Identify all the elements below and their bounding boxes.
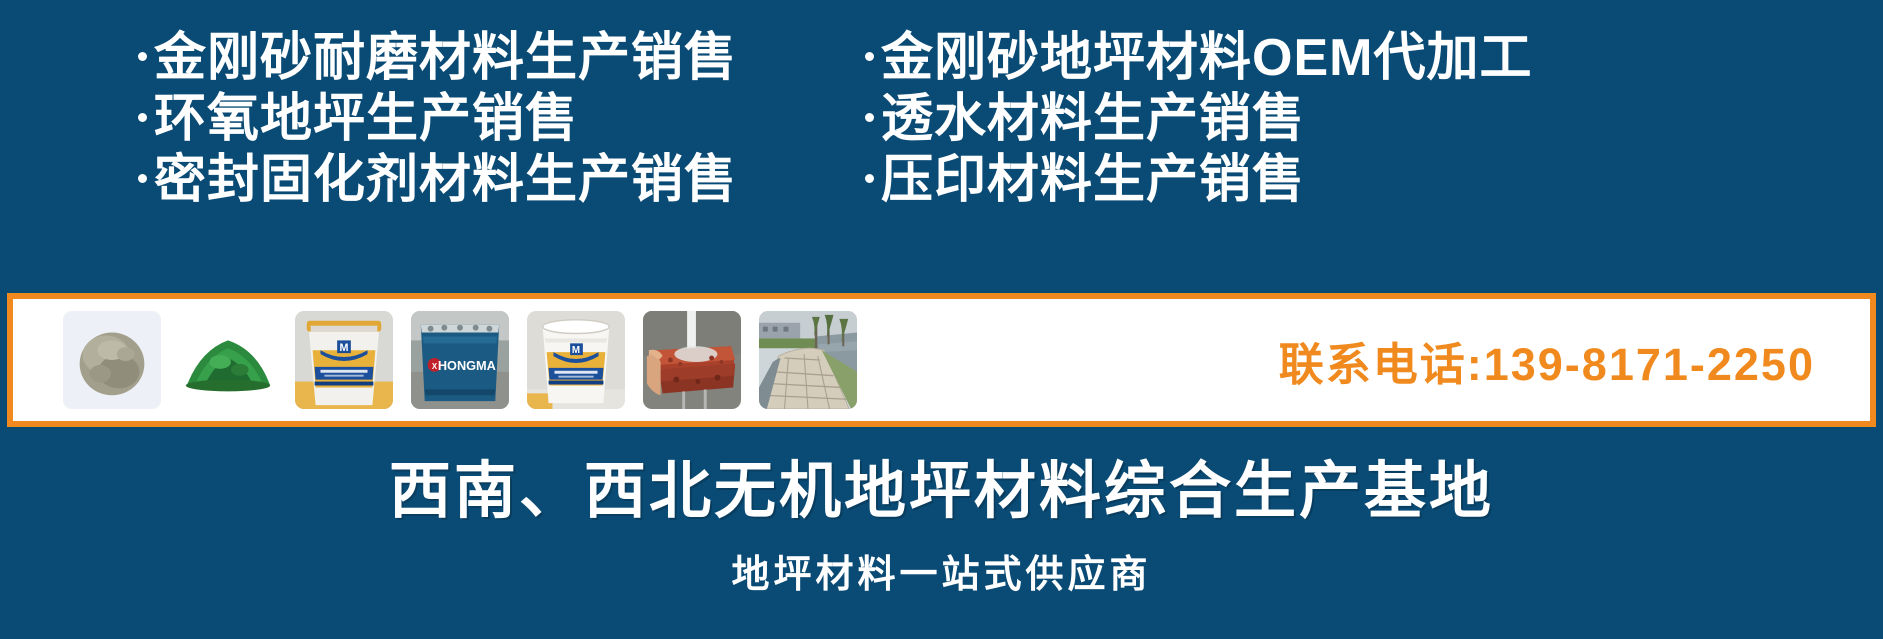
feature-label: 环氧地坪生产销售 <box>154 89 578 150</box>
feature-column-right: 金刚砂地坪材料OEM代加工 透水材料生产销售 压印材料生产销售 <box>855 28 1883 211</box>
feature-column-left: 金刚砂耐磨材料生产销售 环氧地坪生产销售 密封固化剂材料生产销售 <box>0 28 855 211</box>
footer-headline: 西南、西北无机地坪材料综合生产基地 <box>0 455 1883 529</box>
svg-text:M: M <box>572 345 580 356</box>
contact-phone-text: 联系电话:139-8171-2250 <box>1279 339 1815 390</box>
feature-item: 压印材料生产销售 <box>865 150 1883 211</box>
product-showcase-strip: M <box>7 293 1876 427</box>
product-thumb-hongma-blue-drum[interactable]: X HONGMA <box>411 311 509 409</box>
footer-subheadline: 地坪材料一站式供应商 <box>0 552 1883 598</box>
feature-item: 金刚砂地坪材料OEM代加工 <box>865 28 1883 89</box>
bullet-dot-icon <box>865 174 874 183</box>
product-thumb-epoxy-floor-coating-bucket[interactable]: M <box>527 311 625 409</box>
svg-text:HONGMA: HONGMA <box>438 358 496 373</box>
feature-label: 透水材料生产销售 <box>881 89 1305 150</box>
bullet-dot-icon <box>138 52 147 61</box>
feature-item: 透水材料生产销售 <box>865 89 1883 150</box>
svg-text:M: M <box>340 342 349 354</box>
product-thumb-grey-abrasive-powder[interactable] <box>63 311 161 409</box>
feature-item: 密封固化剂材料生产销售 <box>138 150 855 211</box>
product-thumb-concrete-sealer-bucket[interactable]: M <box>295 311 393 409</box>
feature-item: 环氧地坪生产销售 <box>138 89 855 150</box>
feature-label: 压印材料生产销售 <box>881 150 1305 211</box>
bullet-dot-icon <box>865 113 874 122</box>
product-thumb-stamped-concrete-path[interactable] <box>759 311 857 409</box>
feature-list: 金刚砂耐磨材料生产销售 环氧地坪生产销售 密封固化剂材料生产销售 金刚砂地坪材料… <box>0 28 1883 243</box>
product-thumb-permeable-concrete-sample[interactable] <box>643 311 741 409</box>
promotional-banner: 金刚砂耐磨材料生产销售 环氧地坪生产销售 密封固化剂材料生产销售 金刚砂地坪材料… <box>0 0 1883 639</box>
product-thumb-green-abrasive-powder[interactable] <box>179 311 277 409</box>
feature-item: 金刚砂耐磨材料生产销售 <box>138 28 855 89</box>
feature-label: 密封固化剂材料生产销售 <box>154 150 737 211</box>
feature-label: 金刚砂地坪材料OEM代加工 <box>881 28 1532 89</box>
contact-phone-block[interactable]: 联系电话:139-8171-2250 <box>1279 328 1870 393</box>
bullet-dot-icon <box>138 174 147 183</box>
feature-label: 金刚砂耐磨材料生产销售 <box>154 28 737 89</box>
product-thumbnail-list: M <box>13 299 857 421</box>
bullet-dot-icon <box>865 52 874 61</box>
bullet-dot-icon <box>138 113 147 122</box>
